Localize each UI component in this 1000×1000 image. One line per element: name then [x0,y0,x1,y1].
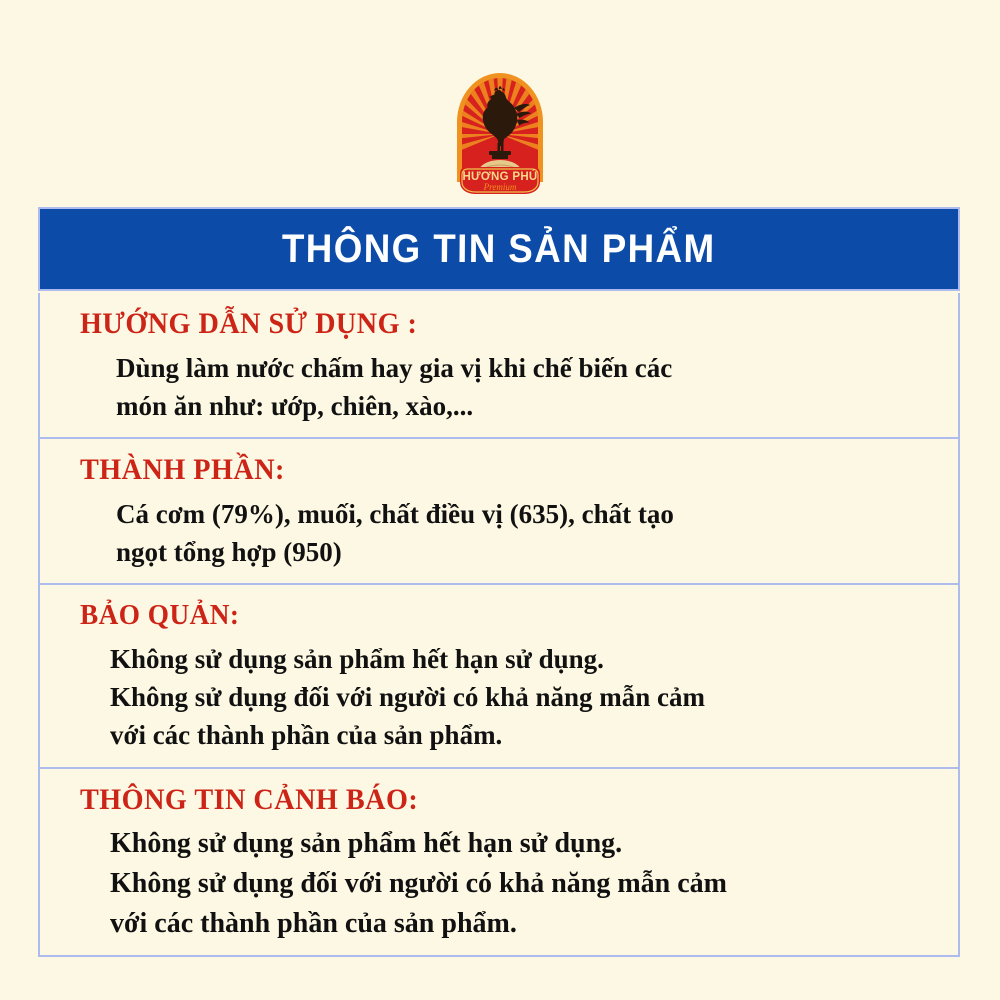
section-ingredients-line-1: Cá cơm (79%), muối, chất điều vị (635), … [116,495,920,533]
section-usage-body: Dùng làm nước chấm hay gia vị khi chế bi… [116,349,920,426]
section-storage-title: BẢO QUẢN: [80,597,881,633]
section-warning-line-3: với các thành phần của sản phẩm. [110,904,920,944]
section-ingredients-line-2: ngọt tổng hợp (950) [116,533,920,571]
section-storage-line-1: Không sử dụng sản phẩm hết hạn sử dụng. [110,640,920,678]
logo-tagline: Premium [483,182,517,192]
section-storage-body: Không sử dụng sản phẩm hết hạn sử dụng. … [110,640,920,755]
section-ingredients-title: THÀNH PHẦN: [80,451,881,489]
section-usage: HƯỚNG DẪN SỬ DỤNG : Dùng làm nước chấm h… [40,293,958,437]
section-usage-line-1: Dùng làm nước chấm hay gia vị khi chế bi… [116,349,920,387]
section-ingredients-body: Cá cơm (79%), muối, chất điều vị (635), … [116,495,920,572]
product-info-table: HƯỚNG DẪN SỬ DỤNG : Dùng làm nước chấm h… [38,293,960,957]
section-storage: BẢO QUẢN: Không sử dụng sản phẩm hết hạn… [40,583,958,766]
section-warning-title: THÔNG TIN CẢNH BÁO: [80,781,881,819]
rooster-emblem-icon: HƯƠNG PHÚ Premium [452,70,548,196]
section-usage-title: HƯỚNG DẪN SỬ DỤNG : [80,305,881,343]
section-storage-line-3: với các thành phần của sản phẩm. [110,716,920,754]
section-warning: THÔNG TIN CẢNH BÁO: Không sử dụng sản ph… [40,767,958,956]
section-storage-line-2: Không sử dụng đối với người có khả năng … [110,678,920,716]
section-header-banner: THÔNG TIN SẢN PHẨM [38,207,960,291]
page-title: THÔNG TIN SẢN PHẨM [282,229,716,269]
section-ingredients: THÀNH PHẦN: Cá cơm (79%), muối, chất điề… [40,437,958,583]
section-warning-line-2: Không sử dụng đối với người có khả năng … [110,864,920,904]
section-warning-body: Không sử dụng sản phẩm hết hạn sử dụng. … [110,824,920,943]
section-usage-line-2: món ăn như: ướp, chiên, xào,... [116,387,920,425]
product-info-page: HƯƠNG PHÚ Premium THÔNG TIN SẢN PHẨM HƯỚ… [0,0,1000,1000]
section-warning-line-1: Không sử dụng sản phẩm hết hạn sử dụng. [110,824,920,864]
brand-logo-container: HƯƠNG PHÚ Premium [0,70,1000,196]
rooster-emblem-logo: HƯƠNG PHÚ Premium [452,70,548,196]
